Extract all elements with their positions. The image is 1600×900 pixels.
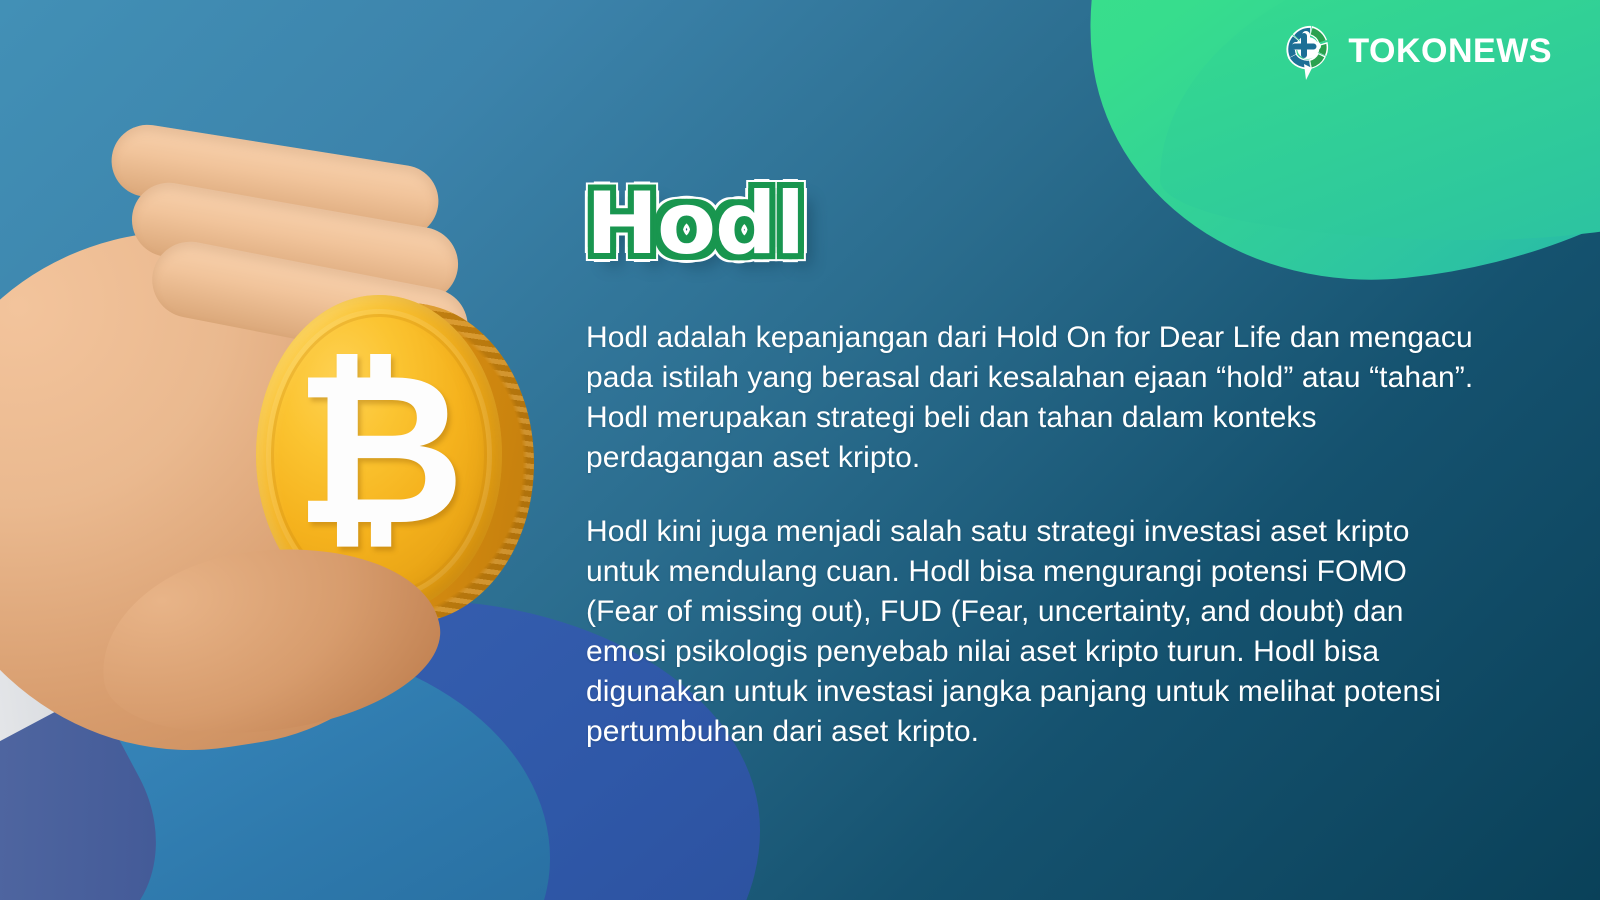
tokonews-chat-bubble-icon xyxy=(1278,20,1334,82)
page-title: Hodl xyxy=(586,176,804,272)
body-paragraph-2: Hodl kini juga menjadi salah satu strate… xyxy=(586,512,1486,752)
brand-name: TOKONEWS xyxy=(1348,32,1552,71)
title-container: Hodl xyxy=(586,176,1506,280)
bitcoin-symbol-icon: ₿ xyxy=(294,355,444,555)
hand-holding-bitcoin-illustration: ₿ xyxy=(0,120,600,900)
body-paragraph-1: Hodl adalah kepanjangan dari Hold On for… xyxy=(586,318,1486,478)
infographic-card: ₿ TOKONEWS Hodl Hodl ad xyxy=(0,0,1600,900)
brand-logo[interactable]: TOKONEWS xyxy=(1278,20,1552,82)
content-column: Hodl Hodl adalah kepanjangan dari Hold O… xyxy=(586,176,1506,752)
